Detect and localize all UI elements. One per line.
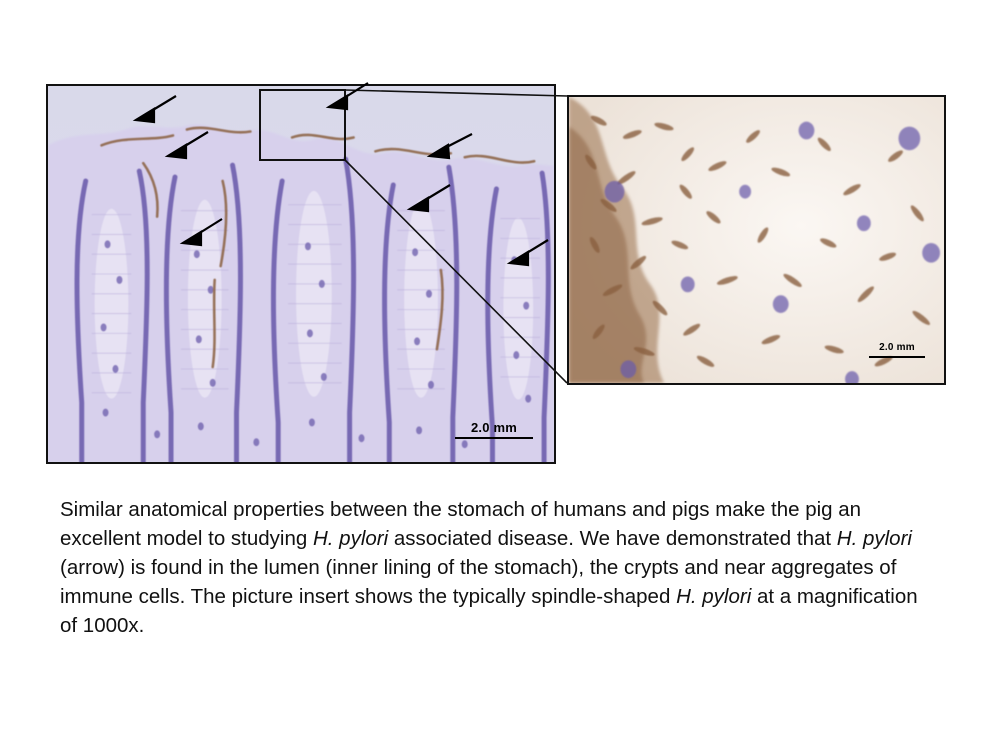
main-scale-label: 2.0 mm [471, 421, 517, 434]
insert-panel-scale-bar: 2.0 mm [869, 343, 925, 358]
figure-slide: 2.0 mm 2.0 mm Similar anatomical propert… [0, 0, 1000, 750]
insert-scale-label: 2.0 mm [879, 343, 915, 353]
caption-segment-1: H. pylori [313, 527, 388, 550]
caption-segment-2: associated disease. We have demonstrated… [388, 527, 837, 550]
main-histology-panel [46, 84, 556, 464]
insert-micrograph-image [569, 97, 944, 383]
insert-scale-rule [869, 356, 925, 358]
main-panel-scale-bar: 2.0 mm [455, 421, 533, 439]
figure-caption: Similar anatomical properties between th… [60, 495, 940, 640]
caption-segment-5: H. pylori [676, 585, 751, 608]
caption-segment-3: H. pylori [837, 527, 912, 550]
main-scale-rule [455, 437, 533, 439]
main-histology-image [48, 86, 554, 462]
